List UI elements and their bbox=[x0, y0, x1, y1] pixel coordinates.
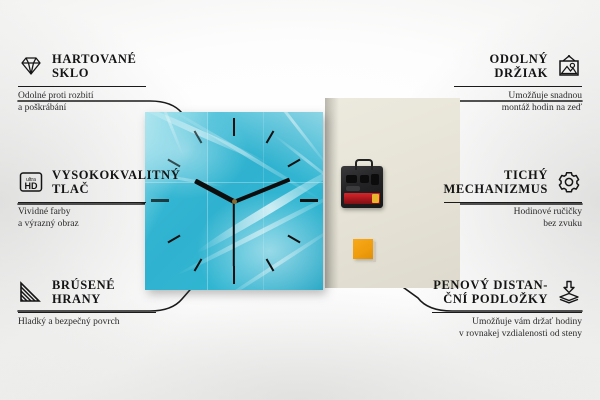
feature-polished-edges: BRÚSENÉHRANY Hladký a bezpečný povrch bbox=[18, 278, 156, 329]
feature-title: ODOLNÝDRŽIAK bbox=[490, 52, 548, 80]
feature-header: TICHÝMECHANIZMUS bbox=[444, 168, 582, 196]
feature-description: Hodinové ručičkybez zvuku bbox=[444, 207, 582, 230]
feature-title: VYSOKOKVALITNÝTLAČ bbox=[52, 168, 180, 196]
ultra-hd-icon: ultra HD bbox=[18, 170, 44, 194]
glass-seam-vertical-2 bbox=[263, 112, 264, 290]
feature-divider bbox=[18, 202, 146, 203]
hatched-edge-icon bbox=[18, 280, 44, 304]
feature-description: Vividné farbya výrazný obraz bbox=[18, 207, 146, 230]
clock-center-pin bbox=[232, 199, 237, 204]
feature-description: Umožňuje vám držať hodinyv rovnakej vzdi… bbox=[432, 317, 582, 340]
diamond-icon bbox=[18, 54, 44, 78]
hour-tick-8 bbox=[167, 235, 180, 244]
wall-panel-shadow bbox=[325, 98, 339, 288]
feature-divider bbox=[432, 312, 582, 313]
hour-tick-1 bbox=[266, 130, 275, 143]
feature-description: Odolné proti rozbitía poškrábání bbox=[18, 91, 146, 114]
foam-spacer-pad bbox=[353, 239, 373, 259]
feature-description: Umožňuje snadnoumontáž hodin na zeď bbox=[454, 91, 582, 114]
wall-clock-front bbox=[145, 112, 323, 290]
feature-header: ultra HD VYSOKOKVALITNÝTLAČ bbox=[18, 168, 146, 196]
svg-text:HD: HD bbox=[25, 181, 38, 191]
feature-silent-mechanism: TICHÝMECHANIZMUS Hodinové ručičkybez zvu… bbox=[444, 168, 582, 230]
feature-header: PENOVÝ DISTAN-ČNÍ PODLOŽKY bbox=[432, 278, 582, 306]
feature-high-quality-print: ultra HD VYSOKOKVALITNÝTLAČ Vividné farb… bbox=[18, 168, 146, 230]
feature-header: HARTOVANÉSKLO bbox=[18, 52, 146, 80]
clock-mechanism bbox=[341, 166, 383, 208]
feature-title: PENOVÝ DISTAN-ČNÍ PODLOŽKY bbox=[433, 278, 548, 306]
hour-tick-6 bbox=[233, 266, 235, 284]
feature-divider bbox=[18, 312, 156, 313]
product-photo bbox=[140, 98, 460, 303]
feature-header: BRÚSENÉHRANY bbox=[18, 278, 156, 306]
arrow-press-pads-icon bbox=[556, 280, 582, 304]
mechanism-hanger-hook bbox=[355, 159, 373, 170]
mechanism-detail bbox=[346, 186, 360, 191]
feature-divider bbox=[18, 86, 146, 87]
hour-tick-12 bbox=[233, 118, 235, 136]
battery-plus-terminal bbox=[372, 194, 379, 203]
second-hand bbox=[233, 201, 235, 267]
gear-icon bbox=[556, 170, 582, 194]
feature-durable-holder: ODOLNÝDRŽIAK Umožňuje snadnoumontáž hodi… bbox=[454, 52, 582, 114]
framed-picture-hook-icon bbox=[556, 54, 582, 78]
feature-divider bbox=[454, 86, 582, 87]
mechanism-detail bbox=[346, 175, 357, 183]
mechanism-detail bbox=[360, 175, 369, 183]
hour-tick-9 bbox=[151, 199, 169, 202]
hour-tick-4 bbox=[287, 235, 300, 244]
feature-description: Hladký a bezpečný povrch bbox=[18, 317, 156, 329]
feature-foam-spacers: PENOVÝ DISTAN-ČNÍ PODLOŽKY Umožňuje vám … bbox=[432, 278, 582, 340]
mechanism-detail bbox=[371, 174, 379, 185]
hour-tick-3 bbox=[300, 199, 318, 202]
infographic-canvas: HARTOVANÉSKLO Odolné proti rozbitía pošk… bbox=[0, 0, 600, 400]
feature-tempered-glass: HARTOVANÉSKLO Odolné proti rozbitía pošk… bbox=[18, 52, 146, 114]
feature-title: HARTOVANÉSKLO bbox=[52, 52, 136, 80]
feature-divider bbox=[444, 202, 582, 203]
feature-title: BRÚSENÉHRANY bbox=[52, 278, 115, 306]
feature-title: TICHÝMECHANIZMUS bbox=[443, 168, 548, 196]
battery bbox=[344, 193, 380, 204]
feature-header: ODOLNÝDRŽIAK bbox=[454, 52, 582, 80]
hour-tick-2 bbox=[287, 159, 300, 168]
foam-spacer-pad-edge bbox=[373, 242, 376, 262]
